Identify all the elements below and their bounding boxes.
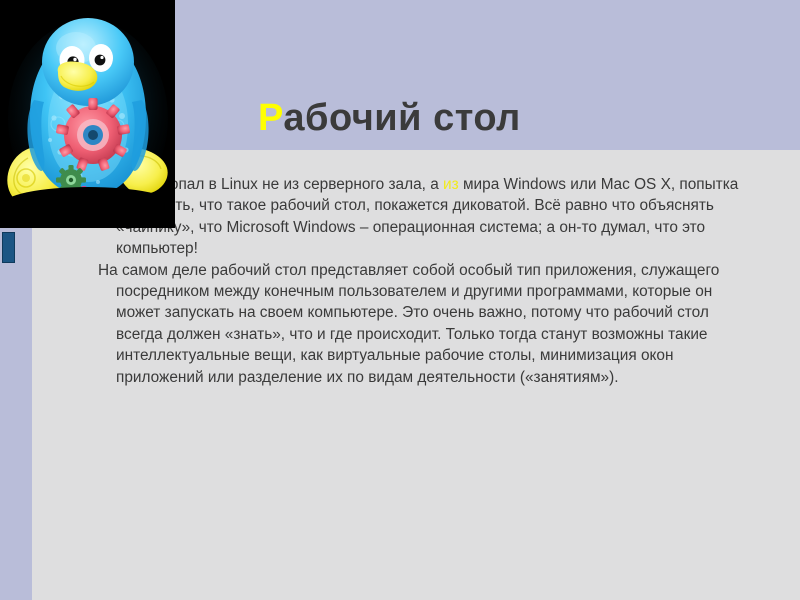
text-run-highlight: из xyxy=(443,176,459,193)
body-paragraph: Тем, кто попал в Linux не из серверного … xyxy=(98,174,758,260)
presentation-slide: Рабочий стол Тем, кто попал в Linux не и… xyxy=(0,0,800,600)
accent-block xyxy=(2,232,15,263)
body-paragraph: На самом деле рабочий стол представляет … xyxy=(98,260,758,388)
text-run: На самом деле рабочий стол представляет … xyxy=(98,262,719,386)
tux-image-frame xyxy=(0,0,175,228)
slide-title: Рабочий стол xyxy=(258,99,521,137)
slide-body-text: Тем, кто попал в Linux не из серверного … xyxy=(98,174,758,388)
text-run: снять, что такое рабочий стол, покажется… xyxy=(116,197,714,257)
title-highlight-letter: Р xyxy=(258,97,283,139)
title-rest: абочий стол xyxy=(283,97,520,139)
tux-linux-penguin-icon xyxy=(0,0,175,228)
text-run: мира Windows или Mac OS X, попытка xyxy=(459,176,739,193)
